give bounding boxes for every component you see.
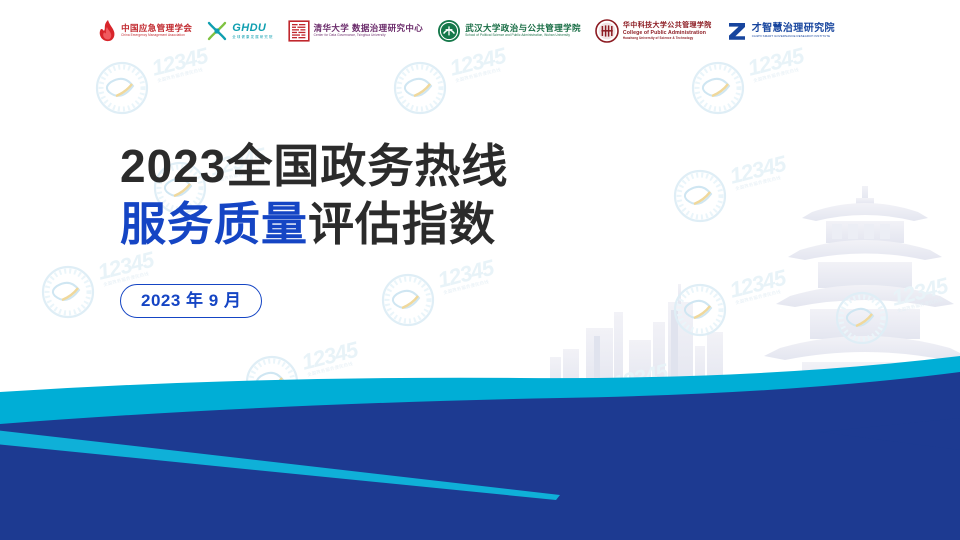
wave-notch bbox=[820, 418, 960, 450]
cyan-thin-ray bbox=[0, 430, 560, 500]
yellow-crane-tower-icon bbox=[764, 186, 960, 448]
logo-label-cn: GHDU bbox=[232, 23, 273, 34]
logo-tsinghua-data-governance-research-center: 清华大学 数据治理研究中心 Center for Data Governance… bbox=[288, 14, 424, 48]
dark-red-circular-seal-icon bbox=[595, 19, 619, 43]
logo-ghdu: GHDU 全球健康发展研究院 bbox=[206, 14, 273, 48]
page-title-highlight: 服务质量 bbox=[120, 198, 308, 250]
title-block: 2023全国政务热线 服务质量评估指数 2023 年 9 月 bbox=[120, 140, 680, 318]
logo-caizhi-smart-governance-research-institute: 才智慧治理研究院 CAIZHI SMART GOVERNANCE RESEARC… bbox=[726, 14, 835, 48]
blue-z-emblem-icon bbox=[726, 20, 748, 42]
logo-label-cn: 中国应急管理学会 bbox=[121, 24, 192, 33]
red-square-seal-icon bbox=[288, 20, 310, 42]
navy-sliver bbox=[0, 358, 960, 418]
logo-label-en: CAIZHI SMART GOVERNANCE RESEARCH INSTITU… bbox=[752, 35, 835, 38]
page-title-line-2-rest: 评估指数 bbox=[308, 198, 496, 250]
logo-hust-college-of-public-administration: 华中科技大学公共管理学院 College of Public Administr… bbox=[595, 14, 712, 48]
logo-label-cn: 武汉大学政治与公共管理学院 bbox=[465, 24, 581, 33]
logo-label-en: China Emergency Management Association bbox=[121, 34, 192, 37]
deep-blue-wave bbox=[0, 372, 960, 540]
cyan-wave bbox=[0, 356, 960, 438]
logo-label-en: School of Political Science and Public A… bbox=[465, 34, 581, 37]
green-circular-emblem-icon bbox=[437, 19, 461, 43]
page-title-line-2: 服务质量评估指数 bbox=[120, 198, 680, 252]
logo-label-en: Center for Data Governance, Tsinghua Uni… bbox=[314, 34, 424, 37]
logo-label-cn: 清华大学 数据治理研究中心 bbox=[314, 24, 424, 33]
logo-china-emergency-management-association: 中国应急管理学会 China Emergency Management Asso… bbox=[97, 14, 192, 48]
logo-label-cn: 华中科技大学公共管理学院 bbox=[623, 22, 712, 29]
partner-logo-bar: 中国应急管理学会 China Emergency Management Asso… bbox=[0, 14, 960, 48]
page-title-line-1: 2023全国政务热线 bbox=[120, 140, 680, 194]
date-badge: 2023 年 9 月 bbox=[120, 284, 262, 318]
red-flame-emblem-icon bbox=[97, 19, 117, 43]
teal-dna-emblem-icon bbox=[206, 20, 228, 42]
logo-label-cn: 才智慧治理研究院 bbox=[752, 24, 835, 34]
logo-wuhan-university-school-of-political-science-and-public-administration: 武汉大学政治与公共管理学院 School of Political Scienc… bbox=[437, 14, 581, 48]
logo-label-en: 全球健康发展研究院 bbox=[232, 35, 273, 39]
title-slide: 12345 全国政务服务便民热线 bbox=[0, 0, 960, 540]
logo-label-en2: Huazhong University of Science & Technol… bbox=[623, 37, 712, 40]
